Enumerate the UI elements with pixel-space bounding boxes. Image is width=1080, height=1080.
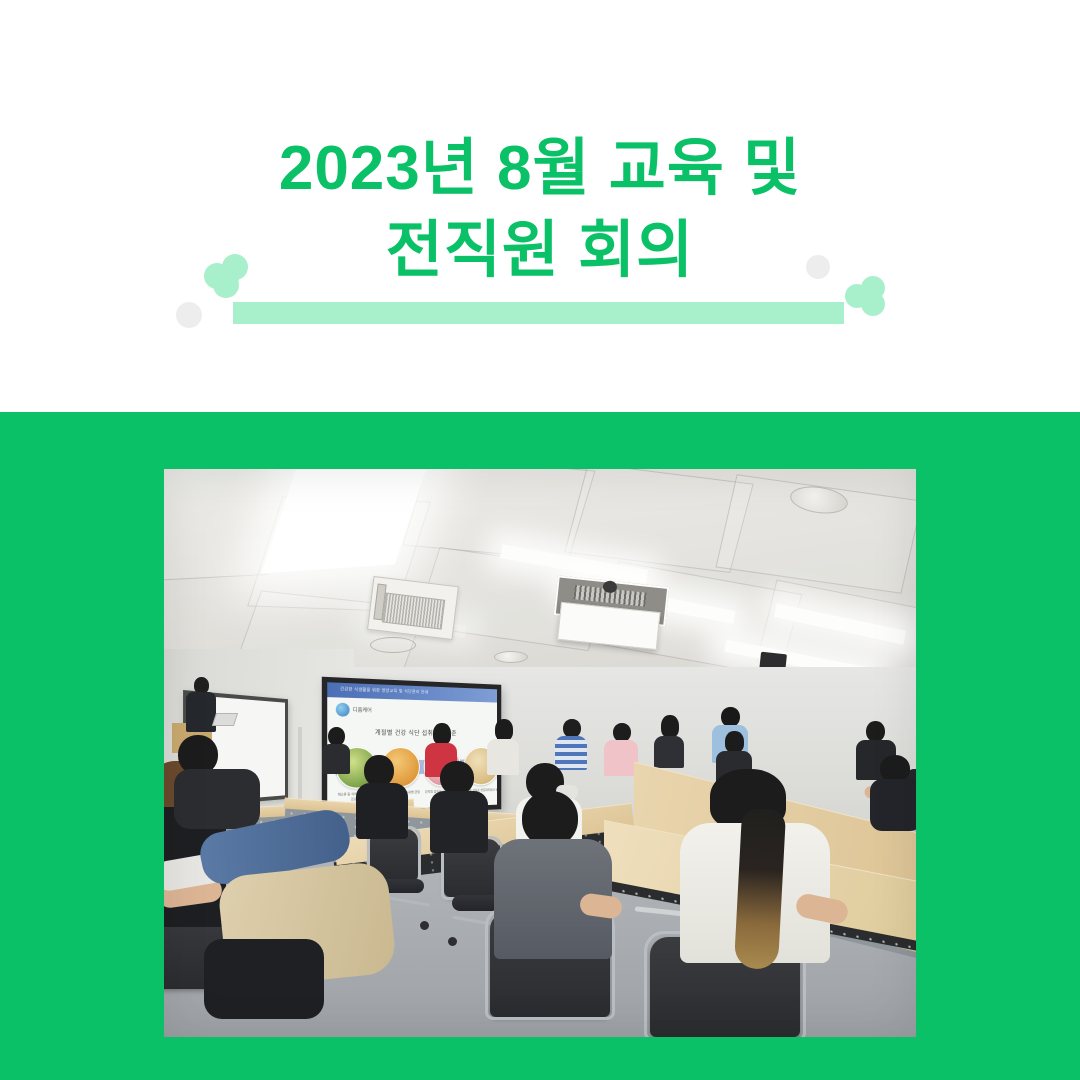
ceiling-projector — [551, 575, 669, 654]
title-line-1: 2023년 8월 교육 및 — [0, 128, 1080, 210]
ceiling-speaker-3 — [494, 651, 528, 663]
title-line-2: 전직원 회의 — [0, 210, 1080, 292]
clover-icon-right — [845, 276, 885, 316]
circle-dot-left — [176, 302, 202, 328]
clover-icon-left — [204, 254, 248, 298]
underline-bar — [233, 302, 844, 324]
header-section: 2023년 8월 교육 및 전직원 회의 — [0, 0, 1080, 412]
meeting-photo: 건강한 식생활을 위한 영양교육 및 식단관리 안내 디움케어 계절별 건강 식… — [164, 469, 916, 1037]
ceiling-speaker-2 — [370, 637, 416, 653]
page-title: 2023년 8월 교육 및 전직원 회의 — [0, 128, 1080, 292]
slide-logo-label: 디움케어 — [353, 706, 372, 714]
slide-title: 계절별 건강 식단 섭취 4대 기준 — [327, 727, 497, 738]
attendee-front-dark-leg — [204, 939, 324, 1019]
slide-header-bar: 건강한 식생활을 위한 영양교육 및 식단관리 안내 — [327, 682, 497, 702]
slide-logo-icon — [336, 703, 350, 717]
circle-dot-right — [806, 255, 830, 279]
slide-header-text: 건강한 식생활을 위한 영양교육 및 식단관리 안내 — [340, 686, 428, 695]
ceiling-ac-unit — [367, 576, 459, 640]
